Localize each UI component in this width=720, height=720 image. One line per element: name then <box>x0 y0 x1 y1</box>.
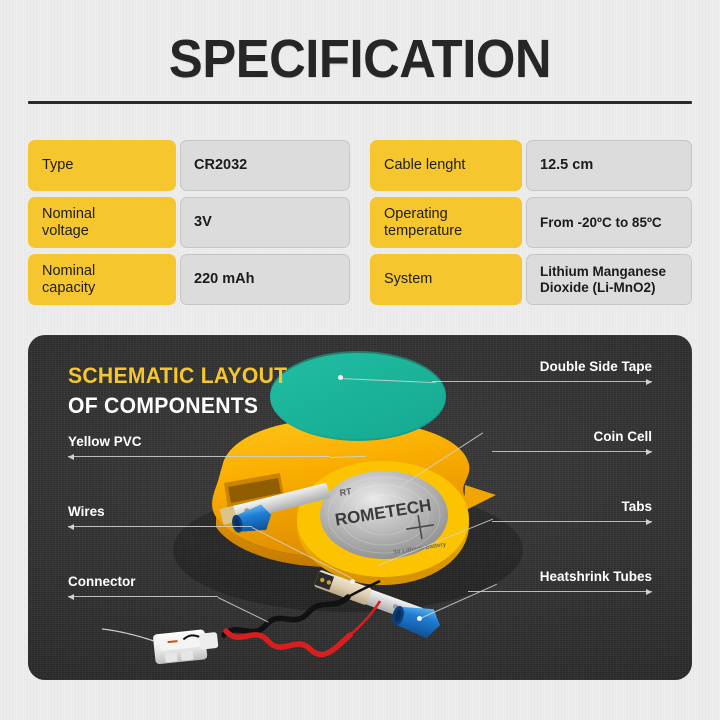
callout-anchor-dot <box>417 616 422 621</box>
spec-key: Type <box>28 140 176 191</box>
callout-label: Heatshrink Tubes <box>540 569 652 585</box>
callout-rule <box>492 521 652 522</box>
callout-tabs: Tabs <box>492 500 652 522</box>
arrow-icon <box>68 454 74 460</box>
spec-key: Nominal voltage <box>28 197 176 248</box>
spec-column-left: Type CR2032 Nominal voltage 3V Nominal c… <box>28 140 350 305</box>
callout-yellow-pvc: Yellow PVC <box>68 435 330 457</box>
callout-label: Coin Cell <box>593 429 652 445</box>
callout-connector: Connector <box>68 575 218 597</box>
arrow-icon <box>646 589 652 595</box>
panel-heading-line2: OF COMPONENTS <box>68 393 287 419</box>
specification-table: Type CR2032 Nominal voltage 3V Nominal c… <box>28 140 692 305</box>
callout-anchor-dot <box>350 579 355 584</box>
schematic-panel: ROMETECH RT 3V Lithium Battery <box>28 335 692 680</box>
callout-label: Double Side Tape <box>540 359 652 375</box>
callout-coin-cell: Coin Cell <box>492 430 652 452</box>
callout-rule <box>468 591 652 592</box>
table-row: Cable lenght 12.5 cm <box>370 140 692 191</box>
spec-key: Operating temperature <box>370 197 522 248</box>
spec-key: System <box>370 254 522 305</box>
arrow-icon <box>646 379 652 385</box>
spec-sheet: SPECIFICATION Type CR2032 Nominal voltag… <box>0 0 720 720</box>
spec-key: Nominal capacity <box>28 254 176 305</box>
callout-label: Tabs <box>621 499 652 515</box>
svg-text:RT: RT <box>339 486 353 498</box>
arrow-icon <box>68 524 74 530</box>
callout-double-side-tape: Double Side Tape <box>432 360 652 382</box>
arrow-icon <box>646 449 652 455</box>
spec-value: 3V <box>180 197 350 248</box>
arrow-icon <box>68 594 74 600</box>
arrow-icon <box>646 519 652 525</box>
spec-column-right: Cable lenght 12.5 cm Operating temperatu… <box>370 140 692 305</box>
table-row: System Lithium Manganese Dioxide (Li-MnO… <box>370 254 692 305</box>
panel-heading-line1: SCHEMATIC LAYOUT <box>68 363 287 389</box>
panel-heading: SCHEMATIC LAYOUT OF COMPONENTS <box>68 363 296 419</box>
table-row: Operating temperature From -20ºC to 85ºC <box>370 197 692 248</box>
callout-rule <box>68 526 252 527</box>
table-row: Nominal voltage 3V <box>28 197 350 248</box>
spec-value: 220 mAh <box>180 254 350 305</box>
callout-rule <box>68 596 218 597</box>
spec-value: From -20ºC to 85ºC <box>526 197 692 248</box>
callout-rule <box>492 451 652 452</box>
callout-rule <box>432 381 652 382</box>
table-row: Nominal capacity 220 mAh <box>28 254 350 305</box>
spec-value: Lithium Manganese Dioxide (Li-MnO2) <box>526 254 692 305</box>
table-row: Type CR2032 <box>28 140 350 191</box>
callout-anchor-dot <box>338 375 343 380</box>
callout-label: Connector <box>68 574 136 590</box>
callout-label: Yellow PVC <box>68 434 142 450</box>
callout-label: Wires <box>68 504 105 520</box>
spec-value: CR2032 <box>180 140 350 191</box>
spec-key: Cable lenght <box>370 140 522 191</box>
callout-heatshrink-tubes: Heatshrink Tubes <box>468 570 652 592</box>
title-divider <box>28 101 692 104</box>
spec-value: 12.5 cm <box>526 140 692 191</box>
callout-wires: Wires <box>68 505 252 527</box>
page-title: SPECIFICATION <box>22 30 699 88</box>
callout-rule <box>68 456 330 457</box>
